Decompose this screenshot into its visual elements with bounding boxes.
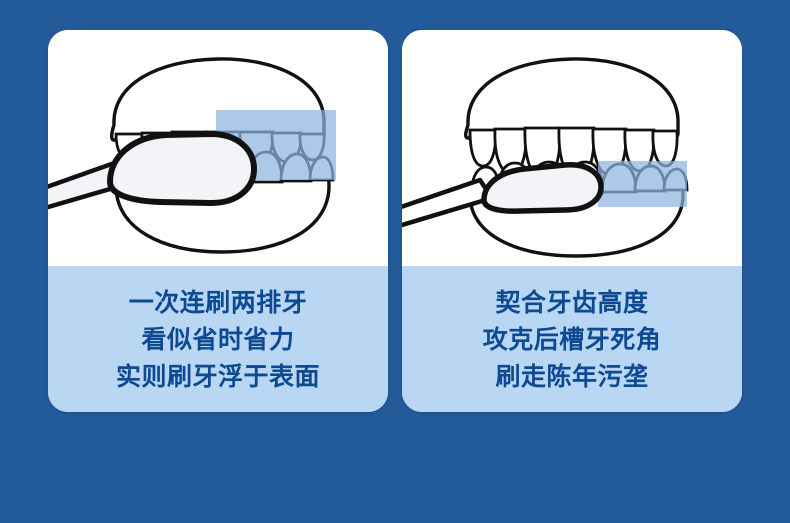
caption-line: 刷走陈年污垄 (495, 359, 648, 396)
caption-line: 实则刷牙浮于表面 (116, 359, 320, 396)
wide-toothbrush-illustration (48, 30, 388, 266)
narrow-toothbrush-illustration (402, 30, 742, 266)
caption-line: 一次连刷两排牙 (129, 285, 308, 322)
caption-right: 契合牙齿高度 攻克后槽牙死角 刷走陈年污垄 (402, 266, 742, 412)
caption-line: 契合牙齿高度 (495, 285, 648, 322)
brush-head-wide (110, 134, 254, 203)
illustration-right (402, 30, 742, 266)
page-root: 一次连刷两排牙 看似省时省力 实则刷牙浮于表面 (0, 0, 790, 523)
caption-line: 看似省时省力 (141, 322, 294, 359)
highlight-band (598, 161, 687, 207)
comparison-card-right: 契合牙齿高度 攻克后槽牙死角 刷走陈年污垄 (402, 30, 742, 412)
illustration-left (48, 30, 388, 266)
caption-line: 攻克后槽牙死角 (483, 322, 662, 359)
caption-left: 一次连刷两排牙 看似省时省力 实则刷牙浮于表面 (48, 266, 388, 412)
comparison-card-left: 一次连刷两排牙 看似省时省力 实则刷牙浮于表面 (48, 30, 388, 412)
